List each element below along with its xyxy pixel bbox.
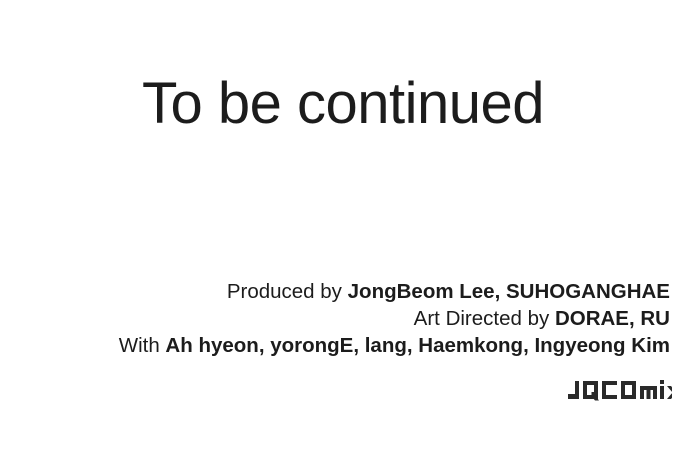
credit-names: JongBeom Lee, SUHOGANGHAE <box>348 280 670 303</box>
credit-names: Ah hyeon, yorongE, lang, Haemkong, Ingye… <box>165 334 670 357</box>
credit-line: Art Directed by DORAE, RU <box>119 305 670 332</box>
jqcomix-wordmark-icon <box>568 379 672 401</box>
page-title: To be continued <box>0 74 690 135</box>
end-credits-slide: To be continued Produced by JongBeom Lee… <box>0 0 690 464</box>
credit-names: DORAE, RU <box>555 307 670 330</box>
jqcomix-logo <box>568 379 672 401</box>
credits-block: Produced by JongBeom Lee, SUHOGANGHAE Ar… <box>119 278 670 359</box>
credit-role-label: Produced by <box>227 280 348 303</box>
credit-role-label: Art Directed by <box>414 307 555 330</box>
credit-role-label: With <box>119 334 166 357</box>
credit-line: Produced by JongBeom Lee, SUHOGANGHAE <box>119 278 670 305</box>
credit-line: With Ah hyeon, yorongE, lang, Haemkong, … <box>119 332 670 359</box>
